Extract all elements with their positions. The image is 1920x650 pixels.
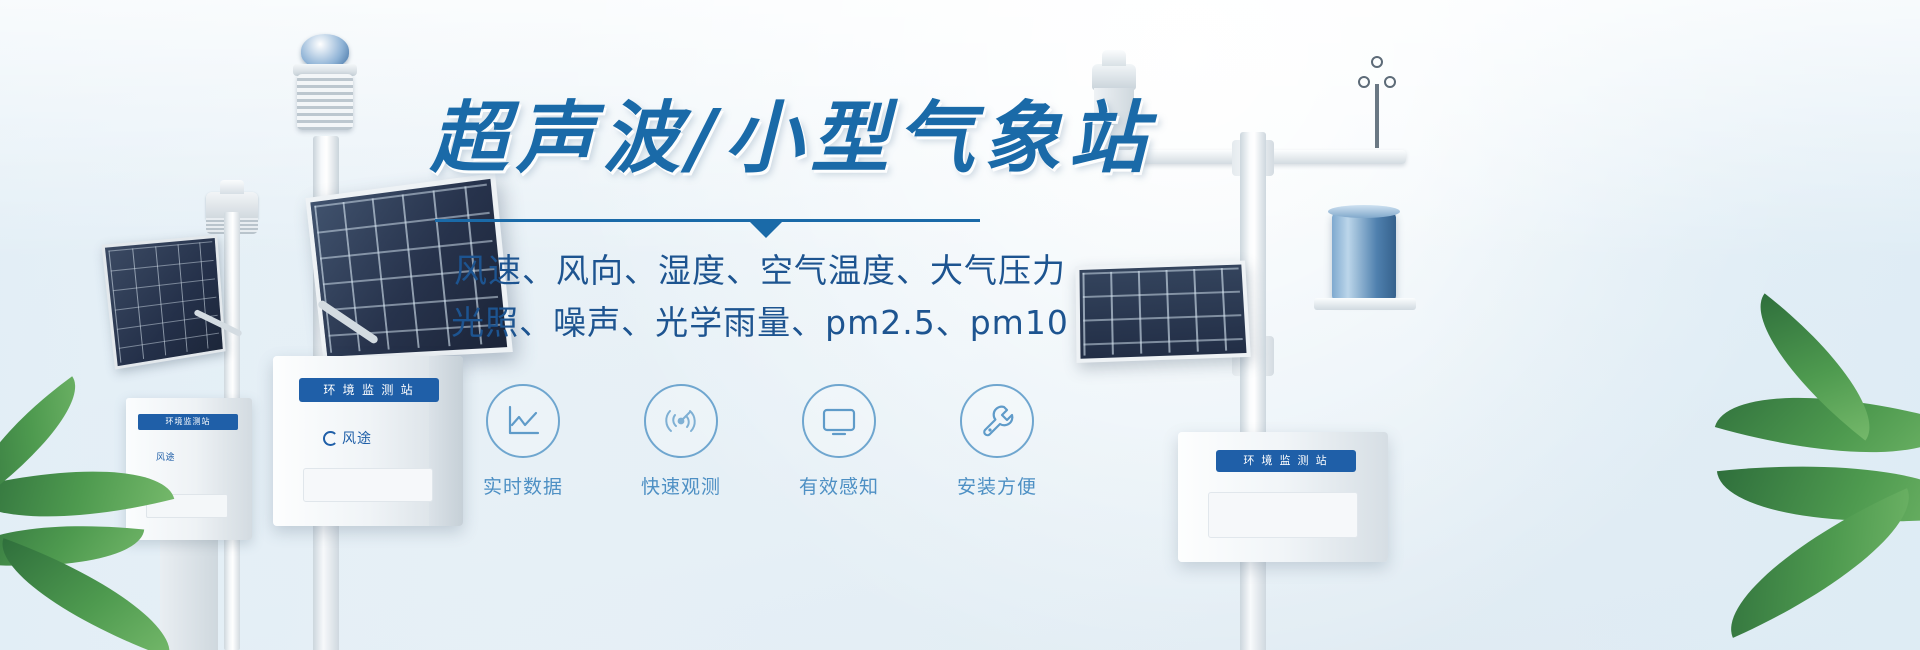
subtitle-line-1: 风速、风向、湿度、空气温度、大气压力 — [430, 245, 1090, 297]
station-pole-lower — [1240, 560, 1266, 650]
page-title: 超声波/小型气象站 — [430, 96, 1090, 183]
foliage-right-decoration — [1640, 380, 1920, 650]
rain-gauge-icon — [1332, 212, 1396, 300]
foliage-left-decoration — [0, 450, 200, 650]
feature-item-fast-observation[interactable]: 快速观测 — [623, 384, 739, 499]
brand-logo: 风途 — [323, 428, 372, 448]
brand-mark-icon — [323, 431, 338, 446]
feature-list: 实时数据 快速观测 — [430, 384, 1090, 499]
control-cabinet: 环 境 监 测 站 — [1178, 432, 1388, 562]
feature-item-effective-sensing[interactable]: 有效感知 — [781, 384, 897, 499]
brand-name: 风途 — [342, 430, 372, 446]
solar-panel — [101, 235, 225, 370]
feature-label: 实时数据 — [465, 472, 581, 499]
feature-label: 快速观测 — [623, 472, 739, 499]
feature-label: 安装方便 — [939, 472, 1055, 499]
instrument-shelf — [1314, 298, 1416, 310]
wrench-icon — [976, 400, 1018, 442]
monitor-icon — [818, 400, 860, 442]
feature-item-easy-install[interactable]: 安装方便 — [939, 384, 1055, 499]
divider-line — [435, 219, 980, 222]
cabinet-vent — [1208, 492, 1358, 538]
cabinet-label: 环 境 监 测 站 — [299, 378, 439, 402]
feature-label: 有效感知 — [781, 472, 897, 499]
feature-icon-circle — [486, 384, 560, 458]
feature-item-realtime-data[interactable]: 实时数据 — [465, 384, 581, 499]
cabinet-label: 环境监测站 — [138, 414, 238, 430]
divider-caret-icon — [750, 222, 782, 238]
subtitle-block: 风速、风向、湿度、空气温度、大气压力 光照、噪声、光学雨量、pm2.5、pm10 — [430, 245, 1090, 349]
line-chart-icon — [502, 400, 544, 442]
anemometer-stem — [1375, 84, 1379, 148]
radar-signal-icon — [660, 400, 702, 442]
cabinet-vent — [303, 468, 433, 502]
product-banner: 环境监测站 风途 环 境 监 测 站 风途 — [0, 0, 1920, 650]
feature-icon-circle — [802, 384, 876, 458]
subtitle-line-2: 光照、噪声、光学雨量、pm2.5、pm10 — [430, 297, 1090, 349]
radiation-shield-icon — [297, 74, 353, 130]
cabinet-label: 环 境 监 测 站 — [1216, 450, 1356, 472]
anemometer-cup — [1371, 56, 1383, 68]
anemometer-cup — [1358, 76, 1370, 88]
ultrasonic-wind-sensor-icon — [1092, 64, 1136, 90]
title-divider — [545, 211, 975, 233]
total-radiation-dome-icon — [301, 34, 349, 68]
solar-panel — [1075, 261, 1250, 363]
station-pole-lower — [313, 524, 339, 650]
feature-icon-circle — [644, 384, 718, 458]
anemometer-icon — [1360, 58, 1394, 92]
anemometer-cup — [1384, 76, 1396, 88]
banner-content: 超声波/小型气象站 风速、风向、湿度、空气温度、大气压力 光照、噪声、光学雨量、… — [430, 96, 1090, 499]
feature-icon-circle — [960, 384, 1034, 458]
